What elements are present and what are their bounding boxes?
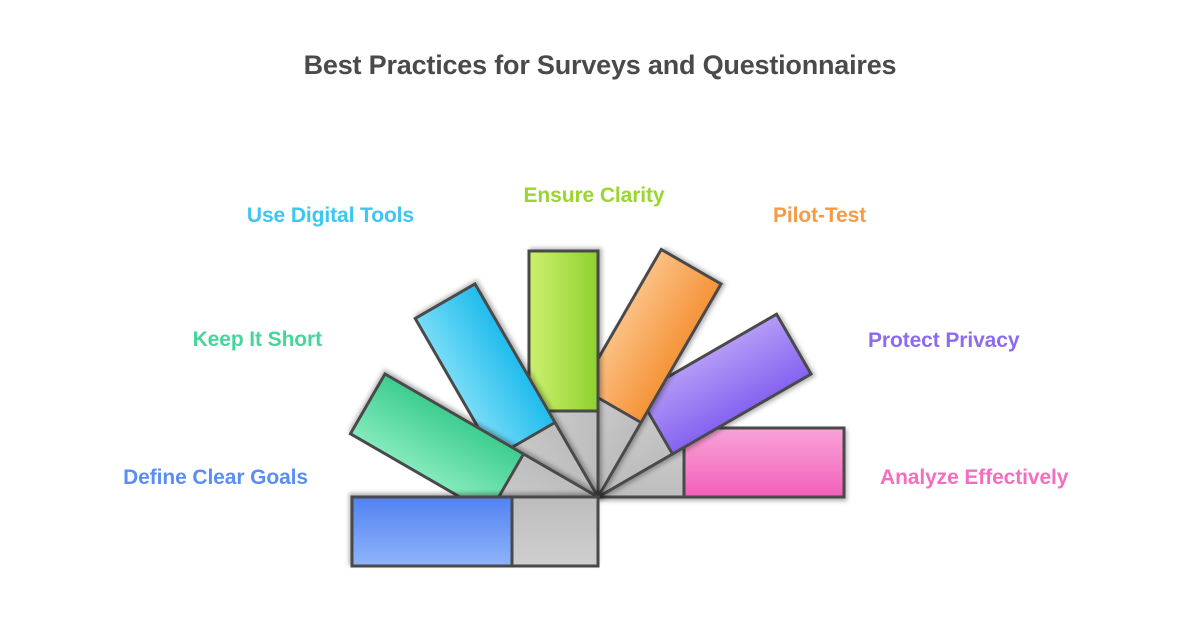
fan-segment-blade-ensure-clarity	[529, 251, 598, 411]
fan-label-pilot-test: Pilot-Test	[773, 204, 866, 228]
fan-label-use-digital-tools: Use Digital Tools	[247, 204, 414, 228]
fan-blades-group	[350, 249, 844, 566]
fan-label-define-clear-goals: Define Clear Goals	[123, 466, 308, 490]
fan-label-analyze-effectively: Analyze Effectively	[880, 466, 1068, 490]
fan-label-keep-it-short: Keep It Short	[193, 328, 322, 352]
fan-segment-blade-define-clear-goals	[352, 497, 512, 566]
fan-diagram	[0, 0, 1200, 628]
fan-label-protect-privacy: Protect Privacy	[868, 329, 1019, 353]
fan-label-ensure-clarity: Ensure Clarity	[524, 184, 665, 208]
fan-segment-define-clear-goals[interactable]	[352, 497, 598, 566]
fan-segment-hub-define-clear-goals	[512, 497, 598, 566]
fan-segment-blade-analyze-effectively	[684, 428, 844, 497]
